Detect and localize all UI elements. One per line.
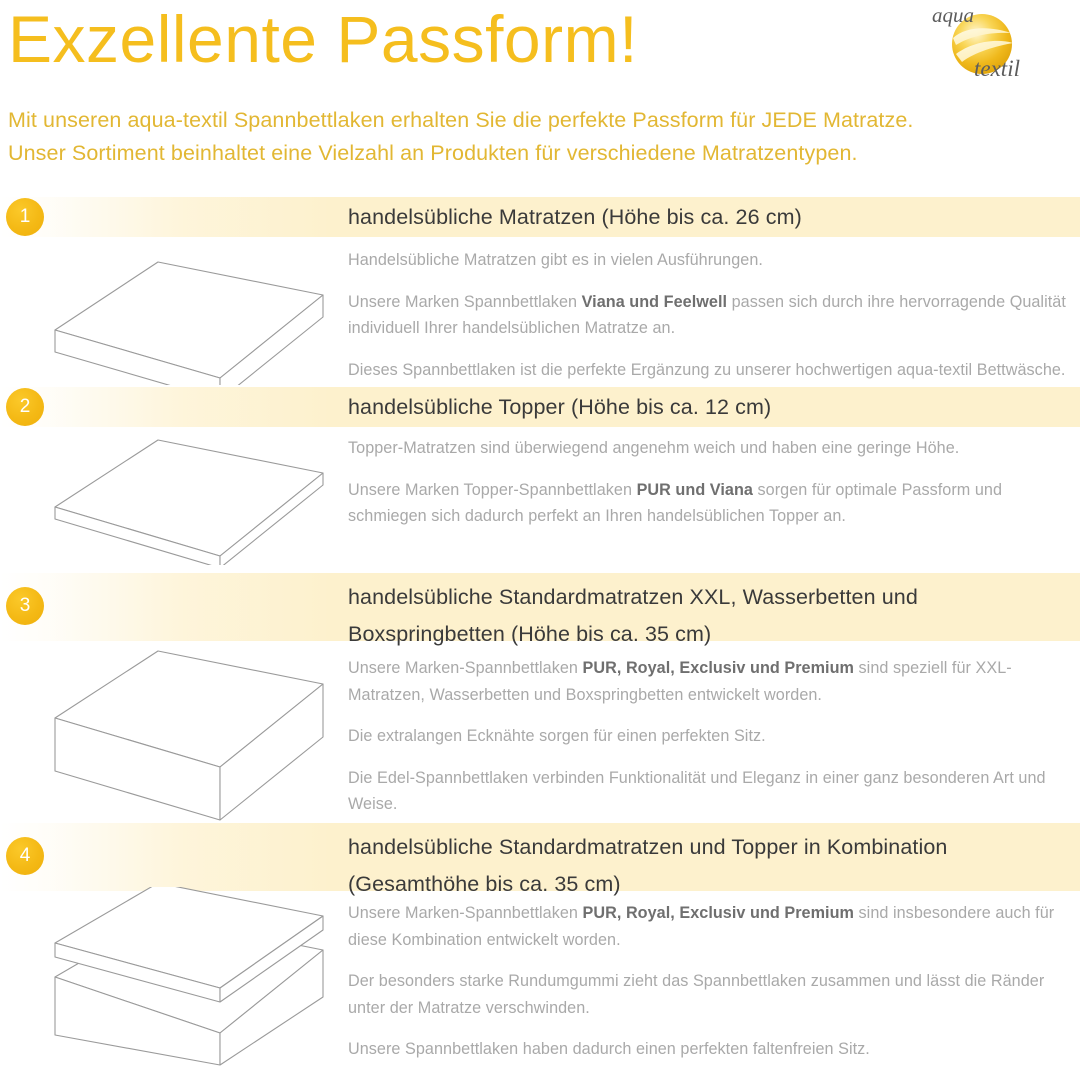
paragraph: Handelsübliche Matratzen gibt es in viel… — [348, 247, 1068, 274]
paragraph: Unsere Spannbettlaken haben dadurch eine… — [348, 1036, 1068, 1063]
section-2-badge: 2 — [6, 388, 44, 426]
aqua-textil-logo: aqua textil — [912, 2, 1062, 88]
paragraph: Topper-Matratzen sind überwiegend angene… — [348, 435, 1068, 462]
logo-word-aqua: aqua — [932, 3, 974, 27]
paragraph: Unsere Marken-Spannbettlaken PUR, Royal,… — [348, 655, 1068, 708]
hero-subtitle-line-2: Unser Sortiment beinhaltet eine Vielzahl… — [8, 137, 1048, 170]
section-2-title: handelsübliche Topper (Höhe bis ca. 12 c… — [348, 387, 1072, 426]
paragraph: Unsere Marken-Spannbettlaken PUR, Royal,… — [348, 900, 1068, 953]
section-4-body: Unsere Marken-Spannbettlaken PUR, Royal,… — [348, 900, 1068, 1063]
logo-graphic: aqua textil — [912, 2, 1062, 88]
paragraph: Die extralangen Ecknähte sorgen für eine… — [348, 723, 1068, 750]
mattress-topper-icon — [40, 425, 340, 565]
hero-subtitle-line-1: Mit unseren aqua-textil Spannbettlaken e… — [8, 104, 1048, 137]
section-2-body: Topper-Matratzen sind überwiegend angene… — [348, 435, 1068, 530]
section-4: handelsübliche Standardmatratzen und Top… — [0, 815, 1080, 1062]
paragraph: Die Edel-Spannbettlaken verbinden Funkti… — [348, 765, 1068, 818]
section-4-band: handelsübliche Standardmatratzen und Top… — [0, 823, 1080, 891]
section-1-title: handelsübliche Matratzen (Höhe bis ca. 2… — [348, 197, 1072, 236]
paragraph: Der besonders starke Rundumgummi zieht d… — [348, 968, 1068, 1021]
section-3: handelsübliche Standardmatratzen XXL, Wa… — [0, 565, 1080, 815]
section-2: handelsübliche Topper (Höhe bis ca. 12 c… — [0, 385, 1080, 565]
paragraph: Unsere Marken Topper-Spannbettlaken PUR … — [348, 477, 1068, 530]
paragraph: Unsere Marken Spannbettlaken Viana und F… — [348, 289, 1068, 342]
section-1-band: handelsübliche Matratzen (Höhe bis ca. 2… — [0, 197, 1080, 237]
section-1-body: Handelsübliche Matratzen gibt es in viel… — [348, 247, 1068, 383]
paragraph: Dieses Spannbettlaken ist die perfekte E… — [348, 357, 1068, 384]
section-1-badge: 1 — [6, 198, 44, 236]
page-title: Exzellente Passform! — [8, 0, 638, 82]
section-3-body: Unsere Marken-Spannbettlaken PUR, Royal,… — [348, 655, 1068, 818]
section-3-badge: 3 — [6, 587, 44, 625]
logo-word-textil: textil — [974, 56, 1020, 81]
mattress-combination-icon — [40, 887, 340, 1067]
section-4-title: handelsübliche Standardmatratzen und Top… — [348, 823, 1072, 903]
mattress-standard-icon — [40, 240, 340, 385]
hero-header: Exzellente Passform! Mit unseren aqua-te… — [0, 0, 1080, 185]
mattress-xxl-icon — [40, 643, 340, 823]
section-1: handelsübliche Matratzen (Höhe bis ca. 2… — [0, 195, 1080, 385]
section-2-band: handelsübliche Topper (Höhe bis ca. 12 c… — [0, 387, 1080, 427]
section-4-badge: 4 — [6, 837, 44, 875]
section-3-title: handelsübliche Standardmatratzen XXL, Wa… — [348, 573, 1072, 653]
section-3-band: handelsübliche Standardmatratzen XXL, Wa… — [0, 573, 1080, 641]
hero-subtitle: Mit unseren aqua-textil Spannbettlaken e… — [8, 104, 1048, 170]
